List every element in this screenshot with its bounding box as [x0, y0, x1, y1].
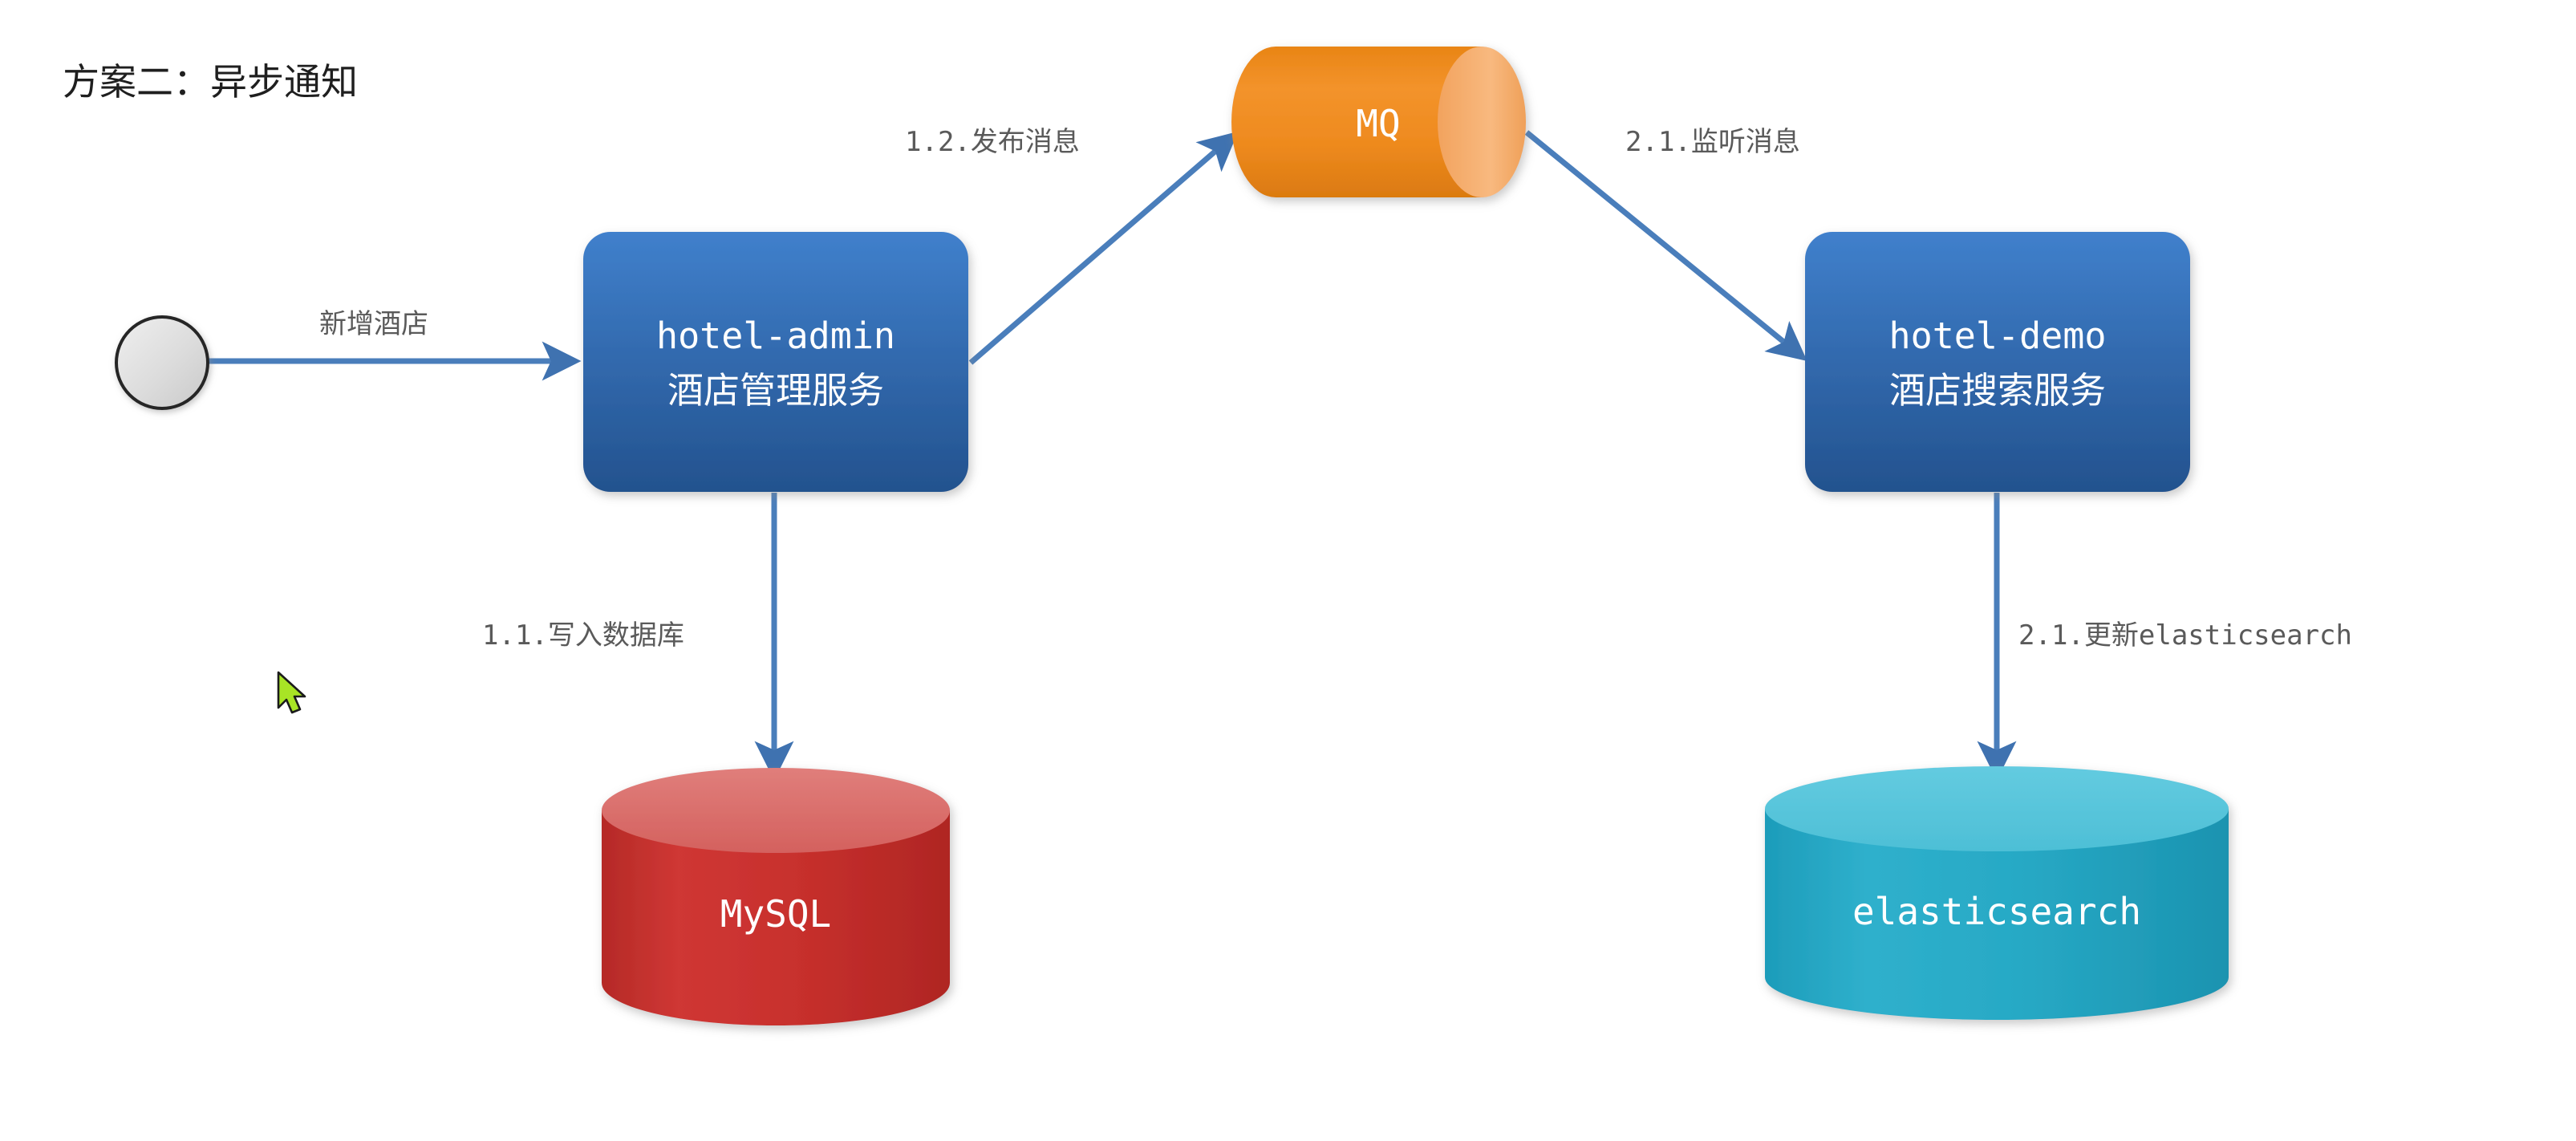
hotel-admin-label-primary: hotel-admin [656, 315, 895, 357]
actor-circle-shape [116, 317, 208, 408]
diagram-canvas: 方案二：异步通知 新增酒店 1.2.发布消息 2.1.监听消息 1.1.写入数据… [0, 0, 2576, 1141]
edge-label-hotel-admin-to-mysql: 1.1.写入数据库 [482, 619, 684, 652]
architecture-diagram: 方案二：异步通知 新增酒店 1.2.发布消息 2.1.监听消息 1.1.写入数据… [0, 0, 2576, 1141]
mq-cylinder-cap [1438, 47, 1526, 197]
mq-label: MQ [1356, 102, 1400, 145]
edge-label-actor-to-hotel-admin: 新增酒店 [319, 308, 428, 340]
hotel-demo-node[interactable]: hotel-demo 酒店搜索服务 [1805, 232, 2190, 492]
mysql-cylinder-cap [602, 768, 950, 853]
cursor-arrow-shape [278, 672, 305, 713]
page-title: 方案二：异步通知 [63, 61, 358, 103]
mq-node[interactable]: MQ [1231, 47, 1526, 197]
elasticsearch-label: elasticsearch [1852, 890, 2141, 933]
mysql-label: MySQL [720, 892, 831, 936]
hotel-demo-label-primary: hotel-demo [1889, 315, 2107, 357]
hotel-demo-label-secondary: 酒店搜索服务 [1889, 370, 2106, 411]
mysql-node[interactable]: MySQL [602, 768, 950, 1025]
edge-hotel-demo-to-elasticsearch: 2.1.更新elasticsearch [1997, 493, 2352, 770]
hotel-admin-box [583, 232, 968, 492]
elasticsearch-cylinder-cap [1765, 766, 2229, 851]
actor-circle[interactable] [116, 317, 208, 408]
hotel-admin-node[interactable]: hotel-admin 酒店管理服务 [583, 232, 968, 492]
mouse-cursor-icon [278, 672, 305, 713]
hotel-admin-label-secondary: 酒店管理服务 [667, 370, 884, 411]
edge-actor-to-hotel-admin: 新增酒店 [209, 308, 571, 361]
edge-mq-to-hotel-demo: 2.1.监听消息 [1527, 126, 1800, 355]
elasticsearch-node[interactable]: elasticsearch [1765, 766, 2229, 1020]
edge-label-hotel-demo-to-elasticsearch: 2.1.更新elasticsearch [2018, 619, 2352, 652]
hotel-demo-box [1805, 232, 2190, 492]
edge-label-mq-to-hotel-demo: 2.1.监听消息 [1625, 126, 1800, 158]
edge-label-hotel-admin-to-mq: 1.2.发布消息 [905, 126, 1080, 158]
edge-hotel-admin-to-mysql: 1.1.写入数据库 [482, 493, 774, 770]
